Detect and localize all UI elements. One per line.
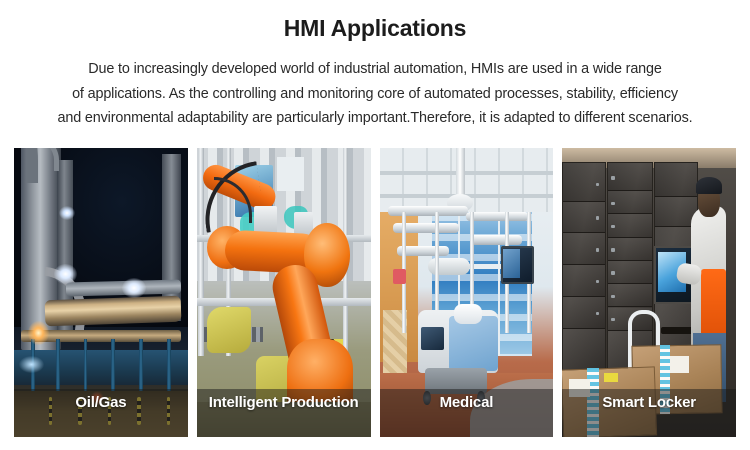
paragraph-line-3: and environmental adaptability are parti… [12,106,738,131]
gallery-card-smart-locker[interactable]: Smart Locker [562,148,736,437]
gallery-card-caption: Oil/Gas [14,394,188,411]
page-title: HMI Applications [0,0,750,42]
page-root: HMI Applications Due to increasingly dev… [0,0,750,450]
intro-paragraph: Due to increasingly developed world of i… [0,57,750,131]
gallery-card-caption: Medical [380,394,554,411]
paragraph-line-2: of applications. As the controlling and … [12,82,738,107]
gallery-card-medical[interactable]: Medical [380,148,554,437]
gallery-card-caption: Smart Locker [562,394,736,411]
application-gallery: Oil/Gas Intel [14,148,736,437]
gallery-card-caption: Intelligent Production [197,394,371,411]
gallery-card-oil-gas[interactable]: Oil/Gas [14,148,188,437]
paragraph-line-1: Due to increasingly developed world of i… [12,57,738,82]
gallery-card-intelligent-production[interactable]: Intelligent Production [197,148,371,437]
